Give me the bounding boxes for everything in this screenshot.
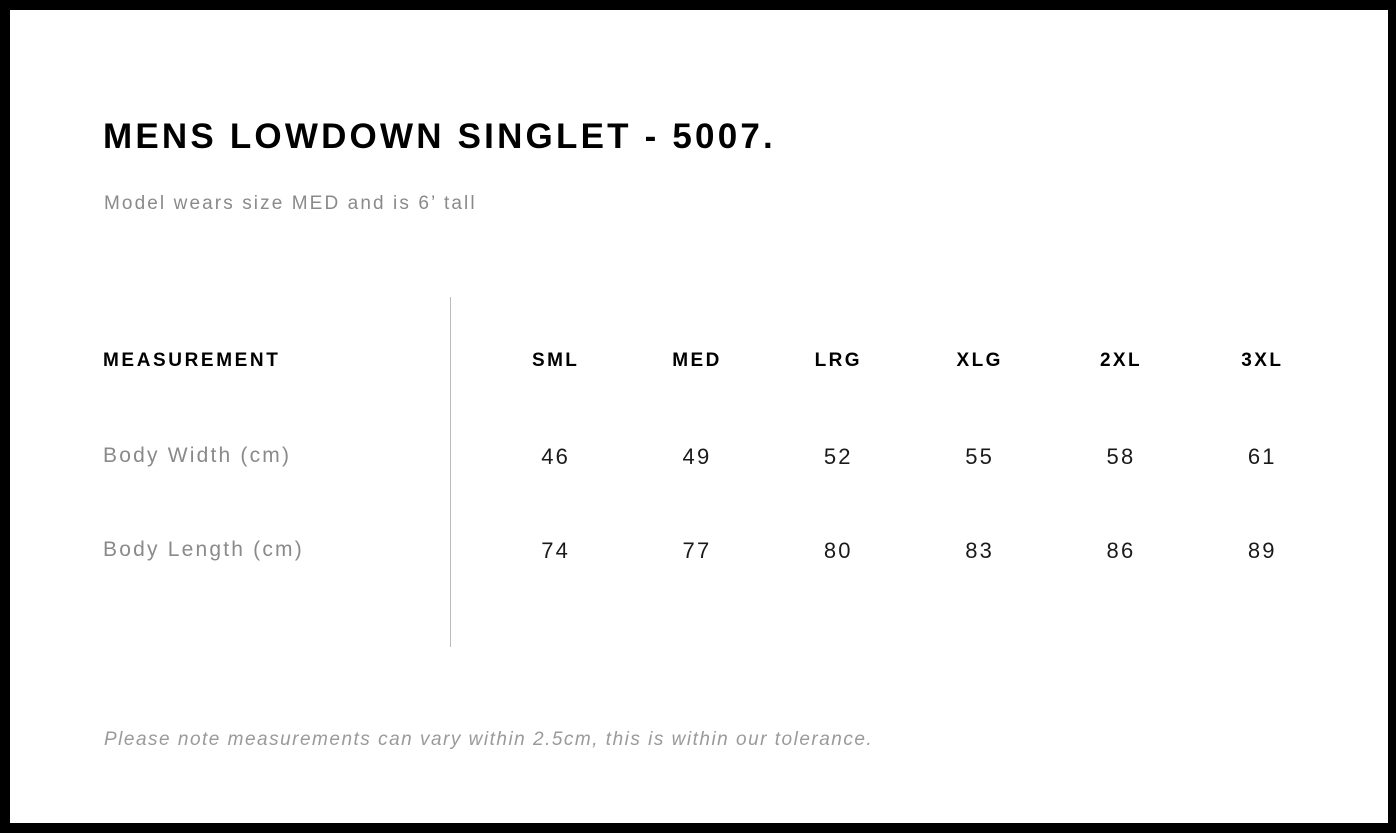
size-header-med: MED: [626, 350, 767, 372]
row-label-body-length: Body Length (cm): [103, 538, 304, 562]
size-header-sml: SML: [485, 350, 626, 372]
size-header-lrg: LRG: [768, 350, 909, 372]
row-values-body-length: 74 77 80 83 86 89: [485, 538, 1333, 564]
measurement-column-header: MEASUREMENT: [103, 350, 280, 372]
size-header-cells: SML MED LRG XLG 2XL 3XL: [485, 350, 1333, 372]
cell-body-length-2xl: 86: [1050, 538, 1191, 564]
size-header-3xl: 3XL: [1192, 350, 1333, 372]
table-header-row: MEASUREMENT SML MED LRG XLG 2XL 3XL: [103, 350, 1333, 444]
table-row: Body Width (cm) 46 49 52 55 58 61: [103, 444, 1333, 538]
size-header-xlg: XLG: [909, 350, 1050, 372]
cell-body-length-sml: 74: [485, 538, 626, 564]
cell-body-width-2xl: 58: [1050, 444, 1191, 470]
cell-body-width-xlg: 55: [909, 444, 1050, 470]
cell-body-width-3xl: 61: [1192, 444, 1333, 470]
size-chart-table: MEASUREMENT SML MED LRG XLG 2XL 3XL Body…: [103, 350, 1333, 632]
cell-body-length-med: 77: [626, 538, 767, 564]
cell-body-width-med: 49: [626, 444, 767, 470]
row-values-body-width: 46 49 52 55 58 61: [485, 444, 1333, 470]
cell-body-length-3xl: 89: [1192, 538, 1333, 564]
cell-body-length-xlg: 83: [909, 538, 1050, 564]
cell-body-width-lrg: 52: [768, 444, 909, 470]
size-header-2xl: 2XL: [1050, 350, 1191, 372]
cell-body-length-lrg: 80: [768, 538, 909, 564]
page-border: MENS LOWDOWN SINGLET - 5007. Model wears…: [0, 0, 1396, 833]
cell-body-width-sml: 46: [485, 444, 626, 470]
table-row: Body Length (cm) 74 77 80 83 86 89: [103, 538, 1333, 632]
model-info-subtitle: Model wears size MED and is 6’ tall: [104, 193, 477, 215]
row-label-body-width: Body Width (cm): [103, 444, 291, 468]
size-chart-sheet: MENS LOWDOWN SINGLET - 5007. Model wears…: [10, 10, 1388, 823]
tolerance-footnote: Please note measurements can vary within…: [104, 729, 873, 751]
page-title: MENS LOWDOWN SINGLET - 5007.: [103, 118, 776, 157]
